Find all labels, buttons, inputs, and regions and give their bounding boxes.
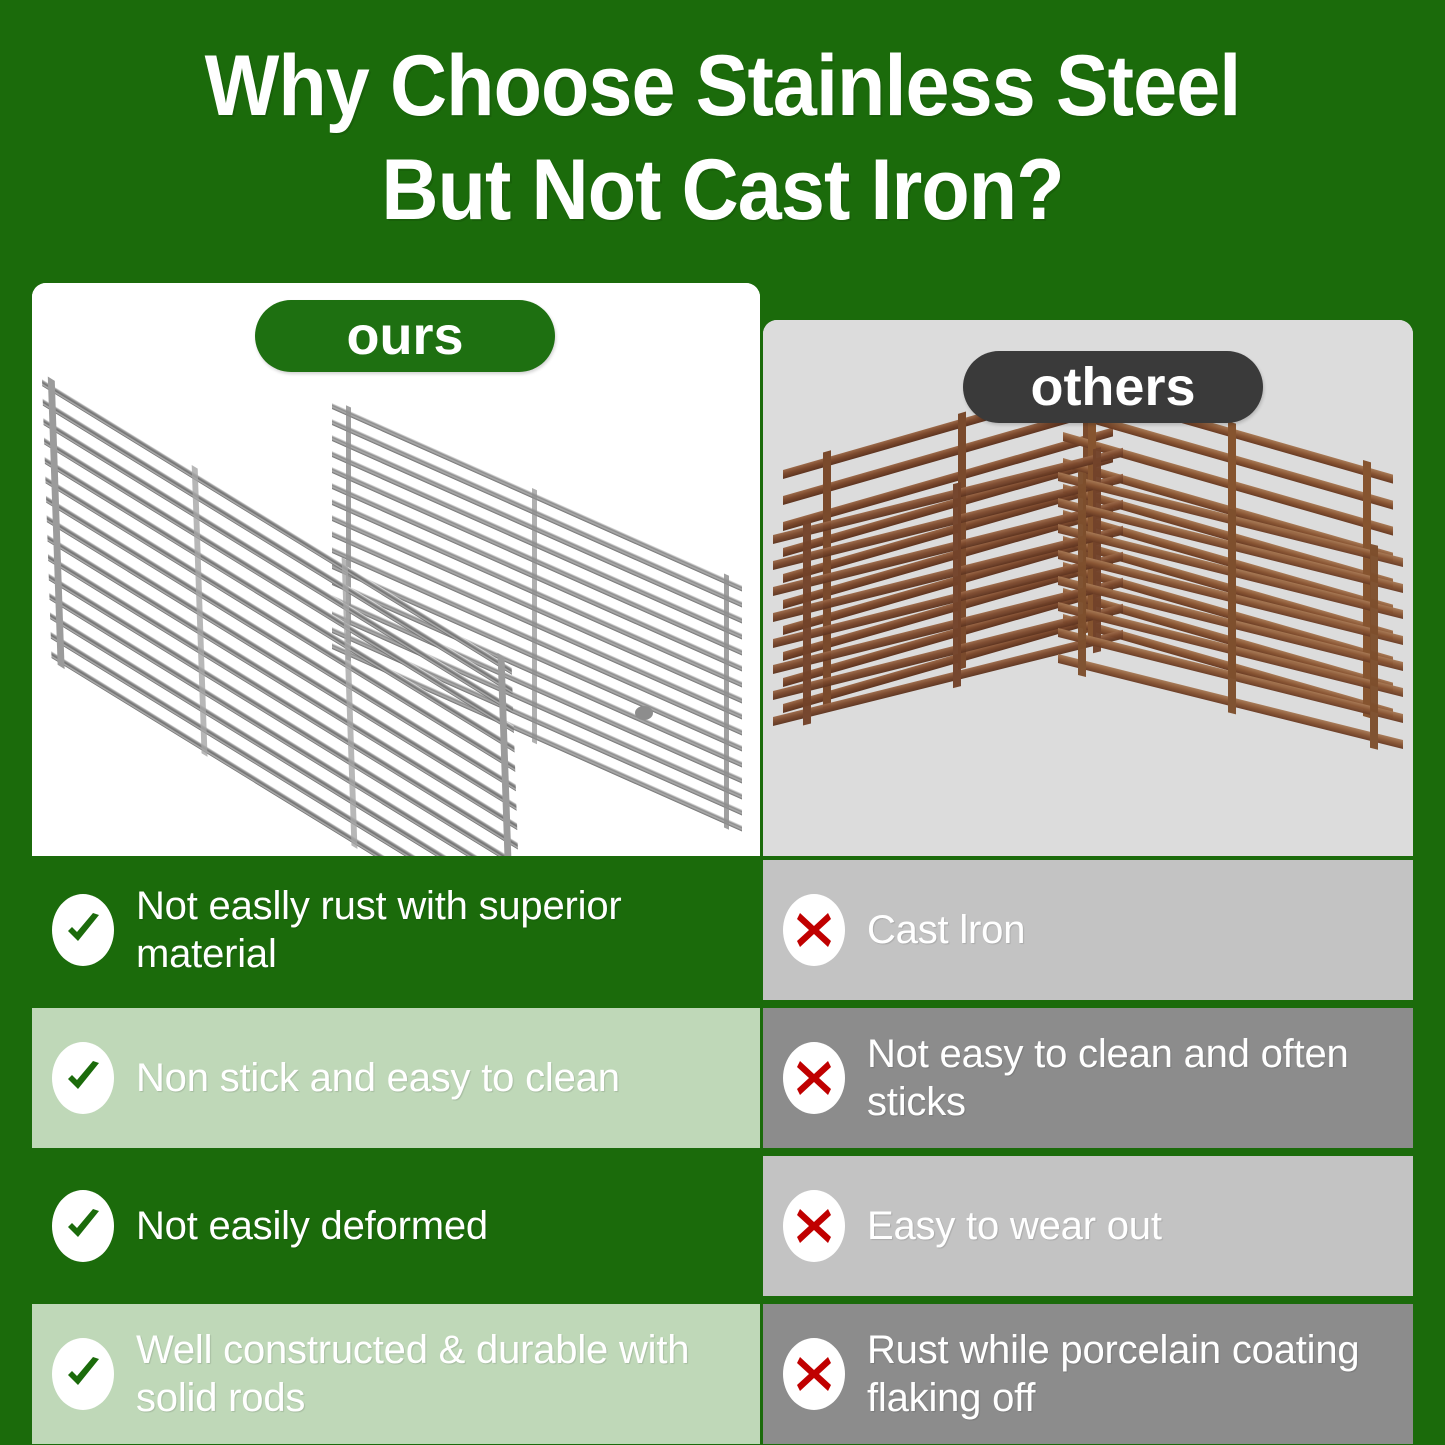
list-item: Cast lron xyxy=(763,860,1413,1000)
list-item-label: Not easlly rust with superior material xyxy=(136,882,742,978)
list-item-label: Easy to wear out xyxy=(867,1202,1162,1250)
page-title-line-2: But Not Cast Iron? xyxy=(58,138,1387,242)
cross-icon xyxy=(783,1190,845,1262)
list-item-label: Not easily deformed xyxy=(136,1202,488,1250)
cross-icon xyxy=(783,1338,845,1410)
list-item: Non stick and easy to clean xyxy=(32,1008,760,1148)
list-item: Easy to wear out xyxy=(763,1156,1413,1296)
list-item-label: Not easy to clean and often sticks xyxy=(867,1030,1395,1126)
list-item: Rust while porcelain coating flaking off xyxy=(763,1304,1413,1444)
page-title: Why Choose Stainless Steel But Not Cast … xyxy=(58,34,1387,242)
list-item-label: Rust while porcelain coating flaking off xyxy=(867,1326,1395,1422)
cross-icon xyxy=(783,1042,845,1114)
cross-icon xyxy=(783,894,845,966)
ours-feature-list: Not easlly rust with superior material N… xyxy=(32,860,760,1445)
check-icon xyxy=(52,1338,114,1410)
list-item: Well constructed & durable with solid ro… xyxy=(32,1304,760,1444)
list-item-label: Well constructed & durable with solid ro… xyxy=(136,1326,742,1422)
list-item-label: Non stick and easy to clean xyxy=(136,1054,620,1102)
page-title-line-1: Why Choose Stainless Steel xyxy=(58,34,1387,138)
list-item: Not easily deformed xyxy=(32,1156,760,1296)
check-icon xyxy=(52,1042,114,1114)
check-icon xyxy=(52,894,114,966)
list-item-label: Cast lron xyxy=(867,906,1025,954)
badge-others: others xyxy=(963,351,1263,423)
check-icon xyxy=(52,1190,114,1262)
list-item: Not easlly rust with superior material xyxy=(32,860,760,1000)
others-feature-list: Cast lron Not easy to clean and often st… xyxy=(763,860,1413,1445)
comparison-infographic: Why Choose Stainless Steel But Not Cast … xyxy=(0,0,1445,1445)
badge-ours: ours xyxy=(255,300,555,372)
list-item: Not easy to clean and often sticks xyxy=(763,1008,1413,1148)
